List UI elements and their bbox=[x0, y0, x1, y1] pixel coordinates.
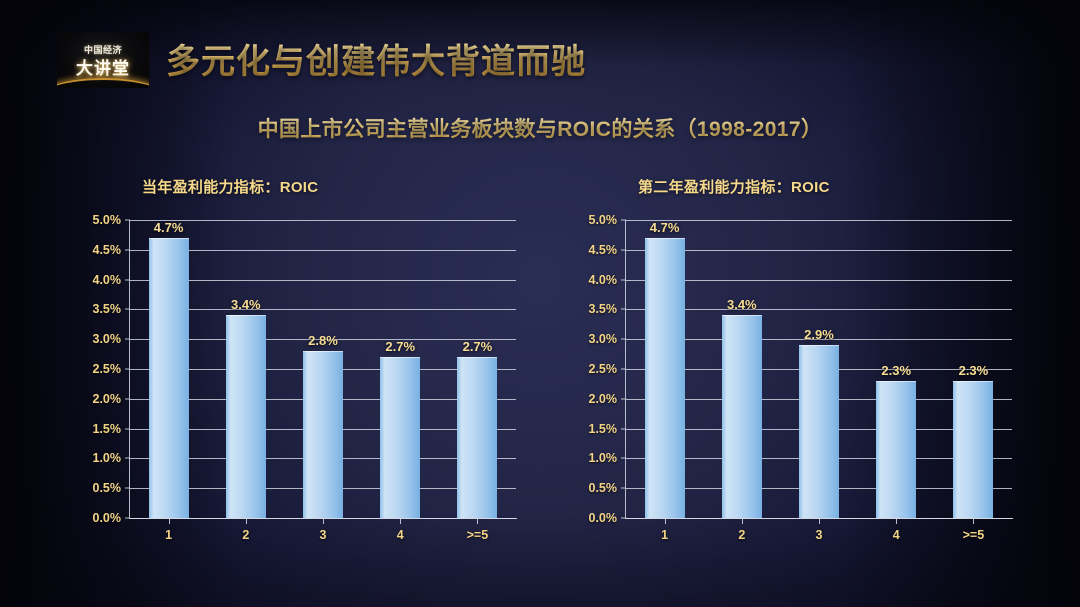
y-axis-tick-label: 1.5% bbox=[589, 422, 618, 436]
y-axis-tick-label: 0.5% bbox=[589, 481, 618, 495]
logo-main-text: 大讲堂 bbox=[57, 54, 149, 79]
x-axis-tick-label: 2 bbox=[738, 528, 745, 542]
y-axis-tick-label: 0.0% bbox=[93, 511, 122, 525]
plot-area: 5.0%4.5%4.0%3.5%3.0%2.5%2.0%1.5%1.0%0.5%… bbox=[130, 220, 516, 518]
x-axis-tick-label: 3 bbox=[320, 528, 327, 542]
bar-slot: 3.4%2 bbox=[207, 220, 284, 518]
x-axis-tick-label: >=5 bbox=[963, 528, 985, 542]
y-axis-tick-label: 1.0% bbox=[589, 451, 618, 465]
y-axis-tick-label: 4.5% bbox=[589, 243, 618, 257]
x-axis-tick-label: 2 bbox=[242, 528, 249, 542]
bar-value-label: 2.7% bbox=[463, 339, 493, 354]
y-axis-tick-label: 3.5% bbox=[589, 302, 618, 316]
chart-title: 第二年盈利能力指标：ROIC bbox=[638, 176, 830, 197]
y-axis-tick-label: 3.5% bbox=[93, 302, 122, 316]
y-axis-tick-label: 4.0% bbox=[93, 273, 122, 287]
y-axis-tick-label: 3.0% bbox=[589, 332, 618, 346]
bar[interactable]: 2.8% bbox=[303, 351, 343, 518]
x-axis-tick-label: >=5 bbox=[467, 528, 489, 542]
bar[interactable]: 4.7% bbox=[645, 238, 685, 518]
y-axis-tick-label: 1.0% bbox=[93, 451, 122, 465]
y-axis-tick-label: 3.0% bbox=[93, 332, 122, 346]
y-axis-tick-label: 2.5% bbox=[93, 362, 122, 376]
bar-value-label: 2.8% bbox=[308, 333, 338, 348]
bar[interactable]: 2.9% bbox=[799, 345, 839, 518]
bar-value-label: 2.9% bbox=[804, 327, 834, 342]
plot-area: 5.0%4.5%4.0%3.5%3.0%2.5%2.0%1.5%1.0%0.5%… bbox=[626, 220, 1012, 518]
x-axis-tick-mark bbox=[973, 518, 974, 524]
y-axis-tick-label: 5.0% bbox=[589, 213, 618, 227]
slide-header: 中国经济 大讲堂 多元化与创建伟大背道而驰 bbox=[0, 22, 1080, 92]
y-axis-tick-label: 4.0% bbox=[589, 273, 618, 287]
x-axis-tick-mark bbox=[246, 518, 247, 524]
y-axis-tick-label: 1.5% bbox=[93, 422, 122, 436]
bar[interactable]: 3.4% bbox=[226, 315, 266, 518]
bar-value-label: 4.7% bbox=[650, 220, 680, 235]
bar-series: 4.7%13.4%22.8%32.7%42.7%>=5 bbox=[130, 220, 516, 518]
bar-slot: 4.7%1 bbox=[626, 220, 703, 518]
slide-subtitle: 中国上市公司主营业务板块数与ROIC的关系（1998-2017） bbox=[0, 113, 1080, 143]
bar-slot: 4.7%1 bbox=[130, 220, 207, 518]
bar[interactable]: 2.7% bbox=[457, 357, 497, 518]
bar-value-label: 2.3% bbox=[959, 363, 989, 378]
x-axis-tick-label: 4 bbox=[893, 528, 900, 542]
bar-slot: 2.3%4 bbox=[858, 220, 935, 518]
x-axis-tick-label: 1 bbox=[165, 528, 172, 542]
y-axis-tick-label: 0.0% bbox=[589, 511, 618, 525]
x-axis-tick-mark bbox=[742, 518, 743, 524]
bar-value-label: 4.7% bbox=[154, 220, 184, 235]
x-axis-tick-mark bbox=[477, 518, 478, 524]
x-axis-tick-mark bbox=[819, 518, 820, 524]
bar-slot: 2.3%>=5 bbox=[935, 220, 1012, 518]
logo-arc-decoration bbox=[57, 78, 149, 88]
brand-logo: 中国经济 大讲堂 bbox=[57, 32, 149, 88]
x-axis-tick-label: 3 bbox=[816, 528, 823, 542]
y-axis-tick-label: 0.5% bbox=[93, 481, 122, 495]
y-axis-tick-label: 2.0% bbox=[589, 392, 618, 406]
bar-slot: 2.7%4 bbox=[362, 220, 439, 518]
bar-slot: 3.4%2 bbox=[703, 220, 780, 518]
chart-second-year: 第二年盈利能力指标：ROIC 5.0%4.5%4.0%3.5%3.0%2.5%2… bbox=[558, 176, 1028, 566]
x-axis-tick-mark bbox=[665, 518, 666, 524]
x-axis-tick-label: 1 bbox=[661, 528, 668, 542]
bar-slot: 2.9%3 bbox=[780, 220, 857, 518]
x-axis-tick-mark bbox=[169, 518, 170, 524]
bar-value-label: 2.3% bbox=[881, 363, 911, 378]
slide-canvas: 中国经济 大讲堂 多元化与创建伟大背道而驰 中国上市公司主营业务板块数与ROIC… bbox=[0, 0, 1080, 607]
y-axis-tick-label: 2.0% bbox=[93, 392, 122, 406]
page-title: 多元化与创建伟大背道而驰 bbox=[166, 34, 586, 83]
chart-title: 当年盈利能力指标：ROIC bbox=[142, 176, 318, 197]
y-axis-tick-label: 5.0% bbox=[93, 213, 122, 227]
bar[interactable]: 2.7% bbox=[380, 357, 420, 518]
bar-slot: 2.8%3 bbox=[284, 220, 361, 518]
chart-current-year: 当年盈利能力指标：ROIC 5.0%4.5%4.0%3.5%3.0%2.5%2.… bbox=[62, 176, 532, 566]
bar[interactable]: 3.4% bbox=[722, 315, 762, 518]
bar[interactable]: 2.3% bbox=[953, 381, 993, 518]
bar[interactable]: 2.3% bbox=[876, 381, 916, 518]
y-axis-tick-label: 4.5% bbox=[93, 243, 122, 257]
x-axis-tick-mark bbox=[896, 518, 897, 524]
bar[interactable]: 4.7% bbox=[149, 238, 189, 518]
y-axis-tick-label: 2.5% bbox=[589, 362, 618, 376]
bar-value-label: 2.7% bbox=[385, 339, 415, 354]
x-axis-tick-label: 4 bbox=[397, 528, 404, 542]
bar-value-label: 3.4% bbox=[727, 297, 757, 312]
x-axis-tick-mark bbox=[323, 518, 324, 524]
x-axis-tick-mark bbox=[400, 518, 401, 524]
bar-slot: 2.7%>=5 bbox=[439, 220, 516, 518]
bar-value-label: 3.4% bbox=[231, 297, 261, 312]
bar-series: 4.7%13.4%22.9%32.3%42.3%>=5 bbox=[626, 220, 1012, 518]
